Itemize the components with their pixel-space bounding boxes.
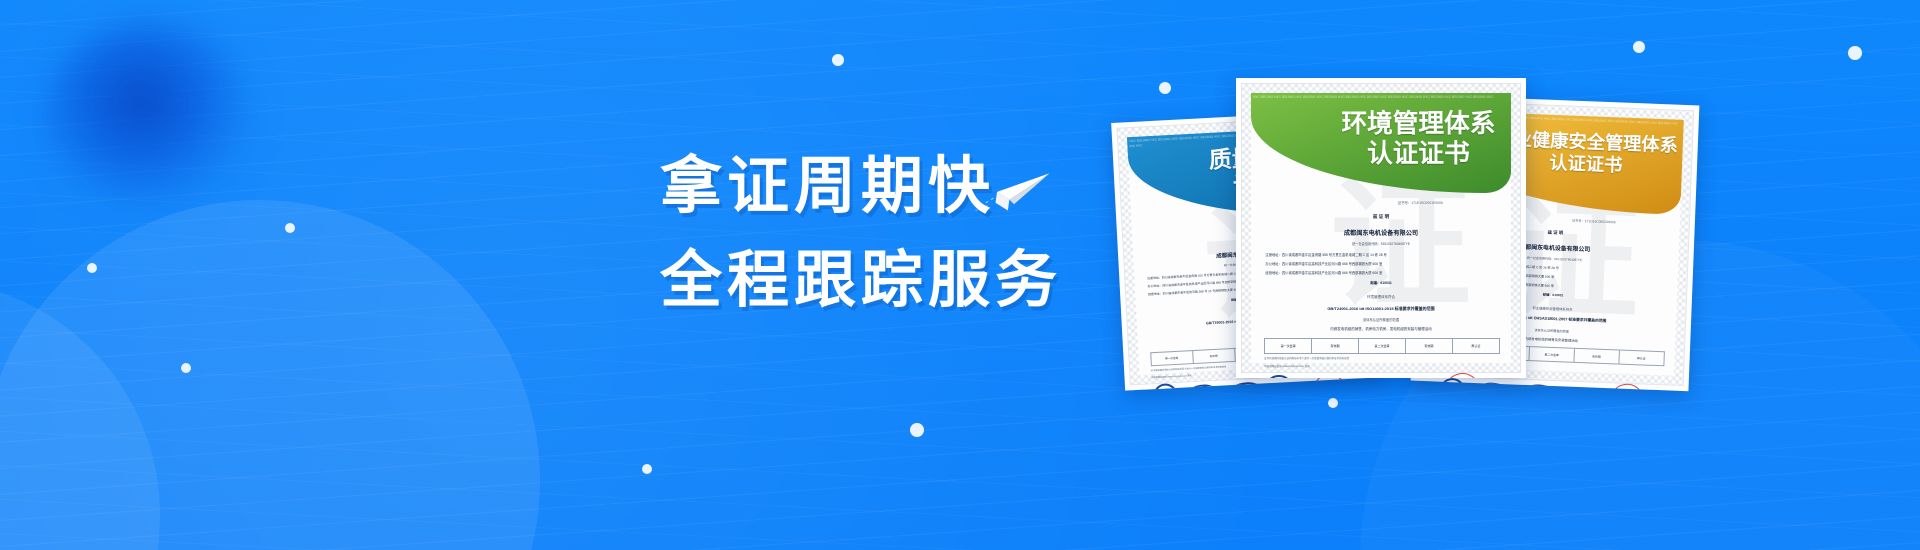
certificate-scope-label: 该体系认证所覆盖的范围 bbox=[1251, 317, 1511, 322]
certificate-address-office: 办公地址：四川省成都市金牛区高科技产业区河川路 666 号西部钢铁大厦 606 … bbox=[1265, 261, 1382, 266]
surveillance-cell: 有效期 bbox=[1193, 349, 1235, 363]
certificate-title: 环境管理体系认证证书 bbox=[1341, 109, 1495, 170]
decorative-dot bbox=[1328, 398, 1338, 408]
certificate-header-banner: HXC BEIJING HXC BEIJING HXC BEIJING HXC … bbox=[1251, 93, 1511, 193]
surveillance-cell: 有效期 bbox=[1406, 339, 1453, 353]
surveillance-cell: 第一次监审 bbox=[1265, 339, 1312, 353]
certificates-group: 证HXC BEIJING HXC BEIJING HXC BEIJING HXC… bbox=[1118, 78, 1920, 398]
surveillance-cell: 再认证 bbox=[1453, 339, 1499, 353]
certificate-company: 成都闽东电机设备有限公司 bbox=[1251, 228, 1511, 237]
certificate-body: 证HXC BEIJING HXC BEIJING HXC BEIJING HXC… bbox=[1251, 93, 1511, 363]
decorative-circle-large bbox=[0, 200, 540, 550]
certificate-scope: 内燃发电机组的销售、机房电力机房、发电机组的安装与管理活动 bbox=[1251, 327, 1511, 332]
decorative-dot bbox=[642, 464, 652, 474]
certificate-title-line-1: 环境管理体系 bbox=[1341, 109, 1495, 139]
certificate-standard: GB/T24001-2016 idt ISO14001:2015 标准要求并覆盖… bbox=[1251, 306, 1511, 312]
headline-line-2: 全程跟踪服务 bbox=[660, 234, 1062, 328]
accreditation-seals: 囩中国认证认可IAFCNAS bbox=[1265, 375, 1390, 378]
certificate-number: 证书号：171E19C0001E0006 bbox=[1398, 200, 1443, 205]
certificate-address-business: 经营地址：四川省成都市金牛区高科技产业区河川路 666 号西部钢铁大厦 606 … bbox=[1265, 270, 1382, 275]
certificate-fineprint-1: 证书有效期内须由认证机构每年至少进行一次监督审核以保持本证书的有效性 bbox=[1264, 356, 1349, 360]
seal-cnas: CNAS bbox=[1518, 384, 1558, 391]
decorative-dot bbox=[285, 223, 295, 233]
decorative-dot bbox=[1633, 41, 1645, 53]
glow-blob-decoration bbox=[42, 22, 257, 212]
seal-cnca: 囩中国认证认可 bbox=[1438, 378, 1465, 392]
decorative-dot bbox=[910, 423, 924, 437]
accreditation-seals: 囩中国认证认可IAFCNAS bbox=[1153, 379, 1266, 391]
certificate-system-label: 环境管理体系符合 bbox=[1251, 295, 1511, 300]
certificate-fineprint-2: 可登录网站查询 www.hxcgroup.com 查询 bbox=[1264, 364, 1310, 368]
seal-cnas: CNAS bbox=[1228, 382, 1266, 391]
decorative-dot bbox=[832, 54, 844, 66]
decorative-dot bbox=[181, 363, 191, 373]
decorative-dot bbox=[87, 263, 97, 273]
certificate-border: 证HXC BEIJING HXC BEIJING HXC BEIJING HXC… bbox=[1241, 83, 1521, 373]
certificate-attest: 兹 证 明 bbox=[1251, 214, 1511, 220]
certificate-credit-code: 统一社会信用代码：91510107604087YE bbox=[1251, 241, 1511, 246]
certificate-surveillance-table: 第一次监审有效期第二次监审有效期再认证 bbox=[1264, 338, 1500, 354]
certificate-postcode: 邮编：610031 bbox=[1251, 280, 1511, 285]
seal-cnca: 囩中国认证认可 bbox=[1265, 375, 1293, 378]
certificate-address-registered: 注册地址：四川省成都市金牛区金府路 555 号万贯五金机电城二期 C 区 14 … bbox=[1265, 252, 1386, 257]
certificate-fineprint-1: 证书有效期内须由认证机构每年至少进行一次监督审核以保持本证书的有效性 bbox=[1151, 365, 1227, 373]
accreditation-seals: 囩中国认证认可IAFCNAS bbox=[1438, 378, 1559, 392]
surveillance-cell: 第一次监审 bbox=[1151, 351, 1193, 365]
surveillance-cell: 有效期 bbox=[1312, 339, 1359, 353]
surveillance-cell: 有效期 bbox=[1574, 349, 1619, 364]
decorative-dot bbox=[1848, 46, 1862, 60]
surveillance-cell: 第二次监审 bbox=[1530, 347, 1575, 362]
certificate-title-line-2: 认证证书 bbox=[1341, 139, 1495, 169]
surveillance-cell: 第二次监审 bbox=[1359, 339, 1406, 353]
surveillance-cell: 再认证 bbox=[1619, 351, 1663, 366]
seal-iaf: IAF bbox=[1473, 382, 1510, 391]
red-official-stamp: 认证 bbox=[1442, 370, 1484, 378]
certificate-fineprint-2: 可登录网站查询 www.hxcgroup.com 查询 bbox=[1151, 373, 1192, 379]
seal-iaf: IAF bbox=[1186, 384, 1221, 391]
paper-plane-icon bbox=[975, 158, 1053, 212]
decorative-circle-small bbox=[0, 280, 160, 550]
promo-banner: 拿证周期快 全程跟踪服务 证HXC BEIJING HXC BEIJING HX… bbox=[0, 0, 1920, 550]
seal-cnca: 囩中国认证认可 bbox=[1153, 383, 1179, 390]
certificate-card-environment[interactable]: 证HXC BEIJING HXC BEIJING HXC BEIJING HXC… bbox=[1236, 78, 1526, 378]
red-official-stamp: 认证 bbox=[1607, 381, 1646, 391]
